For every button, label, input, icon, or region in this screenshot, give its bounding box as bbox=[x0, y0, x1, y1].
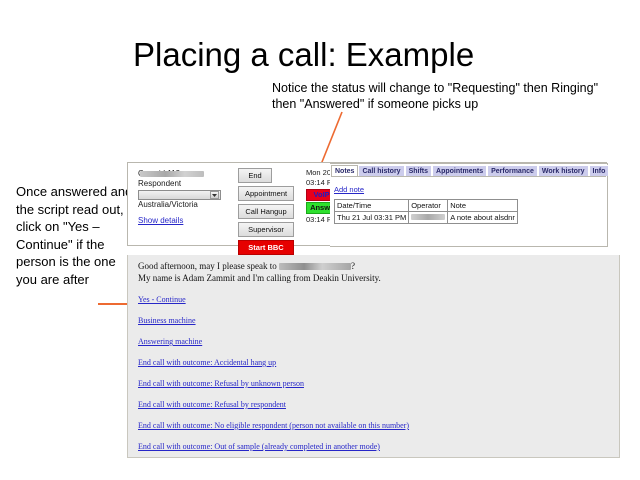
slide-canvas: Placing a call: Example Notice the statu… bbox=[0, 0, 640, 480]
script-panel: Good afternoon, may I please speak to ? … bbox=[127, 255, 620, 458]
show-details-link[interactable]: Show details bbox=[138, 216, 183, 226]
column-datetime: Date/Time bbox=[335, 200, 409, 212]
cell-datetime: Thu 21 Jul 03:31 PM bbox=[335, 212, 409, 224]
case-locale: Australia/Victoria bbox=[138, 200, 233, 210]
column-note: Note bbox=[448, 200, 518, 212]
tab-shifts[interactable]: Shifts bbox=[405, 165, 432, 176]
tab-appointments[interactable]: Appointments bbox=[432, 165, 487, 176]
case-details-block: Case id 113 Respondent Australia/Victori… bbox=[138, 169, 233, 228]
annotation-yes-continue: Once answered and the script read out, c… bbox=[16, 183, 136, 288]
tab-performance[interactable]: Performance bbox=[487, 165, 538, 176]
script-line-2: My name is Adam Zammit and I'm calling f… bbox=[138, 273, 381, 283]
add-note-link[interactable]: Add note bbox=[334, 185, 364, 194]
call-script-text: Good afternoon, may I please speak to ? … bbox=[138, 261, 438, 284]
info-tab-panel: Notes Call history Shifts Appointments P… bbox=[330, 163, 608, 247]
table-row: Thu 21 Jul 03:31 PM A note about alsdnr bbox=[335, 212, 518, 224]
call-control-bar: Case id 113 Respondent Australia/Victori… bbox=[127, 162, 607, 246]
tab-call-history[interactable]: Call history bbox=[358, 165, 404, 176]
tab-notes[interactable]: Notes bbox=[331, 165, 358, 176]
appointment-button[interactable]: Appointment bbox=[238, 186, 294, 201]
script-line-1-before: Good afternoon, may I please speak to bbox=[138, 261, 279, 271]
page-title: Placing a call: Example bbox=[133, 36, 613, 74]
annotation-status-change: Notice the status will change to "Reques… bbox=[272, 81, 602, 112]
cell-note: A note about alsdnr bbox=[448, 212, 518, 224]
tab-work-history[interactable]: Work history bbox=[538, 165, 589, 176]
application-screenshot: Case id 113 Respondent Australia/Victori… bbox=[127, 162, 620, 458]
outcome-refusal-unknown-person[interactable]: End call with outcome: Refusal by unknow… bbox=[138, 379, 304, 389]
notes-table: Date/Time Operator Note Thu 21 Jul 03:31… bbox=[334, 199, 518, 224]
column-operator: Operator bbox=[409, 200, 448, 212]
supervisor-button[interactable]: Supervisor bbox=[238, 222, 294, 237]
respondent-label: Respondent bbox=[138, 179, 233, 189]
respondent-select[interactable] bbox=[138, 190, 221, 200]
tab-strip: Notes Call history Shifts Appointments P… bbox=[330, 164, 607, 176]
notes-tab-body: Add note Date/Time Operator Note bbox=[331, 176, 606, 245]
outcome-links-list: Yes - Continue Business machine Answerin… bbox=[138, 295, 538, 463]
outcome-answering-machine[interactable]: Answering machine bbox=[138, 337, 202, 347]
outcome-accidental-hang-up[interactable]: End call with outcome: Accidental hang u… bbox=[138, 358, 276, 368]
cell-operator bbox=[409, 212, 448, 224]
end-button[interactable]: End bbox=[238, 168, 272, 183]
redacted-respondent-name bbox=[279, 263, 351, 270]
script-line-1-after: ? bbox=[351, 261, 355, 271]
table-header-row: Date/Time Operator Note bbox=[335, 200, 518, 212]
redacted-respondent-value bbox=[140, 171, 204, 177]
redacted-operator-value bbox=[411, 214, 445, 220]
outcome-business-machine[interactable]: Business machine bbox=[138, 316, 196, 326]
start-bbc-button[interactable]: Start BBC bbox=[238, 240, 294, 255]
outcome-no-eligible-respondent[interactable]: End call with outcome: No eligible respo… bbox=[138, 421, 409, 431]
call-hangup-button[interactable]: Call Hangup bbox=[238, 204, 294, 219]
call-action-buttons: End Appointment Call Hangup Supervisor S… bbox=[238, 168, 300, 258]
outcome-out-of-sample[interactable]: End call with outcome: Out of sample (al… bbox=[138, 442, 380, 452]
chevron-down-icon[interactable] bbox=[210, 191, 219, 199]
outcome-yes-continue[interactable]: Yes - Continue bbox=[138, 295, 186, 305]
outcome-refusal-respondent[interactable]: End call with outcome: Refusal by respon… bbox=[138, 400, 286, 410]
tab-info[interactable]: Info bbox=[589, 165, 610, 176]
